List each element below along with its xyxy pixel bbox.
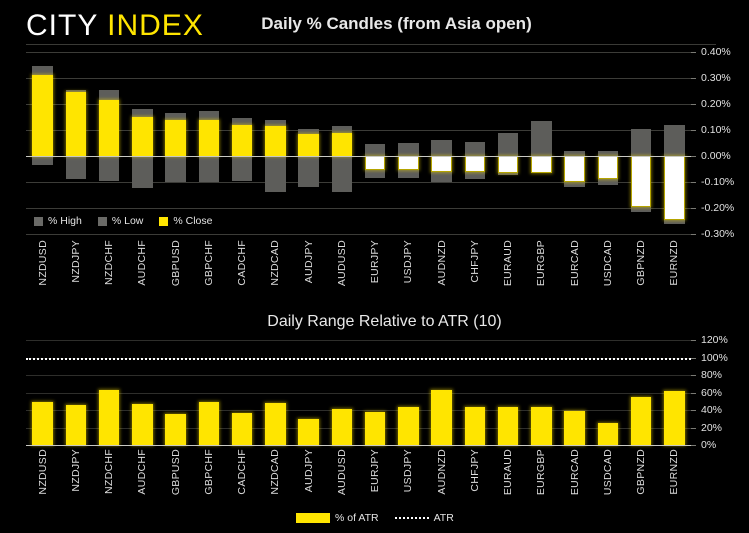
x-axis-label: AUDCHF [136, 240, 148, 286]
candle-body [232, 125, 253, 156]
x-axis-label: EURJPY [369, 449, 381, 492]
legend-swatch [34, 217, 43, 226]
atr-bar [298, 419, 319, 445]
y-axis-label: 0.40% [701, 46, 749, 58]
candle-body [66, 92, 87, 156]
candle-chart-plot [26, 52, 691, 234]
legend-label: ATR [434, 512, 454, 524]
x-axis-label: NZDCAD [269, 240, 281, 286]
legend-swatch [296, 513, 330, 523]
legend-swatch [98, 217, 107, 226]
x-axis-label: EURAUD [502, 449, 514, 495]
candle-body [564, 156, 585, 182]
candle-chart-legend: % High% Low% Close [34, 215, 212, 227]
legend-entry: ATR [395, 512, 454, 524]
x-axis-label: USDJPY [402, 240, 414, 283]
x-axis-label: EURNZD [668, 240, 680, 286]
gridline [26, 130, 691, 131]
y-axis-label: 40% [701, 404, 749, 416]
x-axis-label: AUDJPY [303, 449, 315, 492]
atr-bar [598, 423, 619, 445]
x-axis-label: CHFJPY [469, 240, 481, 283]
candle-body [631, 156, 652, 207]
x-axis-label: CHFJPY [469, 449, 481, 492]
x-axis-label: EURJPY [369, 240, 381, 283]
gridline [26, 52, 691, 53]
candle-body [165, 120, 186, 156]
legend-entry: % of ATR [296, 512, 379, 524]
y-tickmark [691, 208, 696, 209]
x-axis-label: NZDUSD [37, 240, 49, 286]
atr-bar [132, 404, 153, 445]
atr-bar [66, 405, 87, 445]
y-axis-label: -0.30% [701, 228, 749, 240]
y-tickmark [691, 52, 696, 53]
x-axis-label: EURCAD [569, 449, 581, 495]
y-axis-label: -0.20% [701, 202, 749, 214]
x-axis-label: GBPNZD [635, 449, 647, 495]
gridline [26, 208, 691, 209]
atr-bar [265, 403, 286, 445]
x-axis-label: GBPUSD [170, 449, 182, 495]
atr-bar [398, 407, 419, 446]
x-axis-label: CADCHF [236, 240, 248, 286]
atr-bar [431, 390, 452, 445]
x-axis-label: GBPCHF [203, 240, 215, 286]
x-axis-label: AUDUSD [336, 449, 348, 495]
atr-bar [332, 409, 353, 445]
legend-entry: % Low [98, 215, 144, 227]
gridline [26, 78, 691, 79]
x-axis-label: EURGBP [535, 449, 547, 495]
y-axis-label: 20% [701, 422, 749, 434]
gridline [26, 428, 691, 429]
x-axis-label: GBPNZD [635, 240, 647, 286]
gridline [26, 340, 691, 341]
x-axis-label: AUDUSD [336, 240, 348, 286]
candle-body [32, 75, 53, 156]
y-tickmark [691, 358, 696, 359]
y-axis-label: 100% [701, 352, 749, 364]
zero-line [26, 156, 691, 157]
chart2-title: Daily Range Relative to ATR (10) [0, 313, 749, 331]
atr-chart-legend: % of ATRATR [296, 512, 454, 524]
y-tickmark [691, 393, 696, 394]
gridline [26, 393, 691, 394]
x-axis-label: EURAUD [502, 240, 514, 286]
y-tickmark [691, 182, 696, 183]
atr-bar [365, 412, 386, 445]
y-tickmark [691, 428, 696, 429]
atr-bar [32, 402, 53, 445]
x-axis-label: EURCAD [569, 240, 581, 286]
legend-label: % Close [173, 215, 212, 227]
y-tickmark [691, 104, 696, 105]
x-axis-label: GBPUSD [170, 240, 182, 286]
x-axis-label: USDJPY [402, 449, 414, 492]
y-axis-label: -0.10% [701, 176, 749, 188]
legend-entry: % Close [159, 215, 212, 227]
legend-entry: % High [34, 215, 82, 227]
gridline [26, 182, 691, 183]
chart-page: CITY INDEX Daily % Candles (from Asia op… [0, 0, 749, 533]
x-axis-label: GBPCHF [203, 449, 215, 495]
atr-bar [232, 413, 253, 445]
candle-body [531, 156, 552, 173]
atr-bar [99, 390, 120, 445]
y-tickmark [691, 156, 696, 157]
y-tickmark [691, 78, 696, 79]
gridline [26, 234, 691, 235]
x-axis-label: AUDNZD [436, 240, 448, 286]
y-tickmark [691, 234, 696, 235]
atr-reference-line [26, 358, 691, 360]
y-axis-label: 0% [701, 439, 749, 451]
y-tickmark [691, 340, 696, 341]
x-axis-label: EURGBP [535, 240, 547, 286]
y-tickmark [691, 445, 696, 446]
y-axis-label: 120% [701, 334, 749, 346]
legend-label: % High [48, 215, 82, 227]
y-tickmark [691, 410, 696, 411]
legend-swatch [159, 217, 168, 226]
candle-body [465, 156, 486, 172]
atr-bar [199, 402, 220, 445]
candle-body [498, 156, 519, 173]
y-axis-label: 0.30% [701, 72, 749, 84]
candle-body [431, 156, 452, 172]
candle-body [99, 100, 120, 156]
gridline [26, 104, 691, 105]
candle-body [398, 156, 419, 170]
y-tickmark [691, 375, 696, 376]
gridline [26, 375, 691, 376]
candle-body [298, 134, 319, 156]
y-axis-label: 0.20% [701, 98, 749, 110]
y-axis-label: 0.10% [701, 124, 749, 136]
x-axis-label: NZDJPY [70, 240, 82, 283]
atr-bar [165, 414, 186, 445]
legend-label: % Low [112, 215, 144, 227]
x-axis-label: NZDCAD [269, 449, 281, 495]
atr-bar [564, 411, 585, 445]
y-axis-label: 0.00% [701, 150, 749, 162]
atr-chart-xaxis: NZDUSDNZDJPYNZDCHFAUDCHFGBPUSDGBPCHFCADC… [26, 449, 691, 507]
y-axis-label: 80% [701, 369, 749, 381]
atr-bar [664, 391, 685, 445]
candle-chart-xaxis: NZDUSDNZDJPYNZDCHFAUDCHFGBPUSDGBPCHFCADC… [26, 240, 691, 298]
atr-bar [531, 407, 552, 446]
x-axis-label: NZDCHF [103, 240, 115, 285]
x-axis-label: NZDJPY [70, 449, 82, 492]
x-axis-label: NZDUSD [37, 449, 49, 495]
candle-body [664, 156, 685, 220]
atr-chart-baseline [26, 445, 691, 446]
x-axis-label: NZDCHF [103, 449, 115, 494]
x-axis-label: AUDNZD [436, 449, 448, 495]
x-axis-label: EURNZD [668, 449, 680, 495]
legend-label: % of ATR [335, 512, 379, 524]
candle-body [365, 156, 386, 170]
y-tickmark [691, 130, 696, 131]
atr-bar [631, 397, 652, 445]
legend-swatch [395, 517, 429, 519]
candle-body [265, 126, 286, 156]
x-axis-label: AUDCHF [136, 449, 148, 495]
x-axis-label: USDCAD [602, 449, 614, 495]
atr-bar [465, 407, 486, 445]
atr-bar [498, 407, 519, 446]
candle-body [199, 120, 220, 156]
x-axis-label: USDCAD [602, 240, 614, 286]
y-axis-label: 60% [701, 387, 749, 399]
x-axis-label: AUDJPY [303, 240, 315, 283]
x-axis-label: CADCHF [236, 449, 248, 495]
candle-body [332, 133, 353, 156]
candle-body [132, 117, 153, 156]
candle-body [598, 156, 619, 179]
gridline [26, 410, 691, 411]
